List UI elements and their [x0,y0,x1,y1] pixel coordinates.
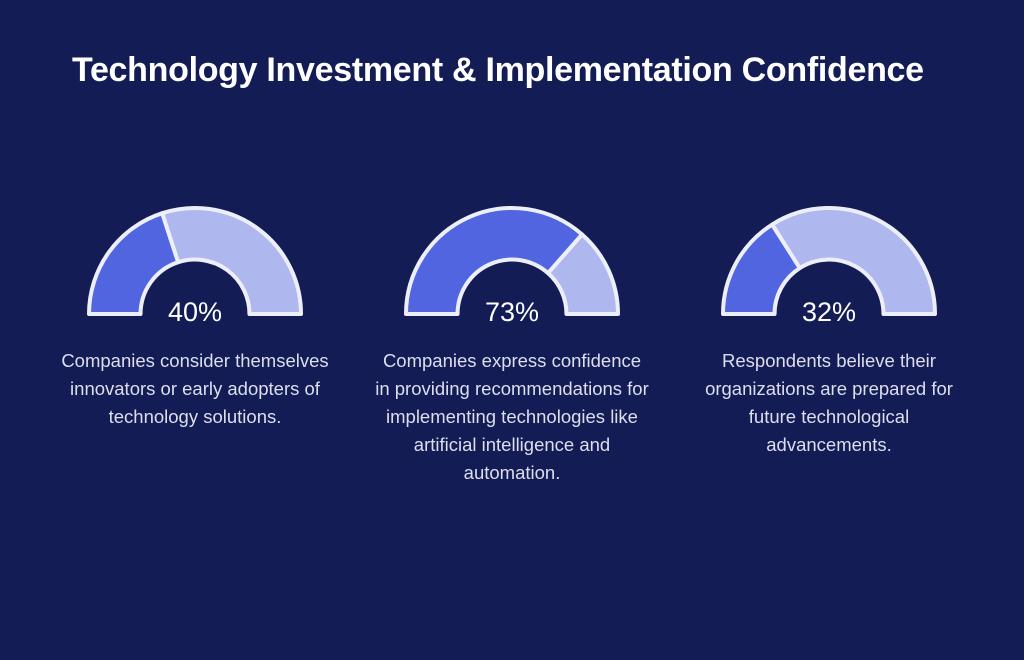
gauge-card: 40% Companies consider themselves innova… [37,200,354,431]
gauge-chart-3: 32% [714,200,944,325]
infographic-page: Technology Investment & Implementation C… [0,0,1024,660]
gauge-caption: Respondents believe their organizations … [693,347,965,459]
gauge-caption: Companies express confidence in providin… [374,347,650,487]
gauge-card: 32% Respondents believe their organizati… [671,200,988,459]
gauge-row: 40% Companies consider themselves innova… [0,200,1024,620]
gauge-chart-1: 40% [80,200,310,325]
gauge-value-label: 32% [714,297,944,327]
page-title: Technology Investment & Implementation C… [72,48,972,92]
gauge-card: 73% Companies express confidence in prov… [354,200,671,487]
gauge-value-label: 73% [397,297,627,327]
gauge-caption: Companies consider themselves innovators… [59,347,331,431]
gauge-value-label: 40% [80,297,310,327]
gauge-chart-2: 73% [397,200,627,325]
